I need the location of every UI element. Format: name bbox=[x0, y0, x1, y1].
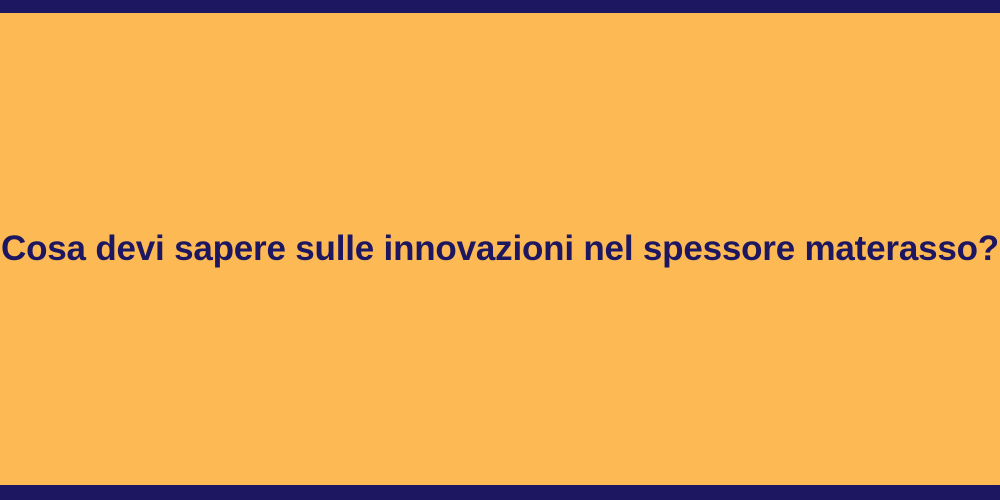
page-title: Cosa devi sapere sulle innovazioni nel s… bbox=[1, 227, 999, 271]
banner-frame: Cosa devi sapere sulle innovazioni nel s… bbox=[0, 0, 1000, 500]
banner-card: Cosa devi sapere sulle innovazioni nel s… bbox=[0, 13, 1000, 485]
